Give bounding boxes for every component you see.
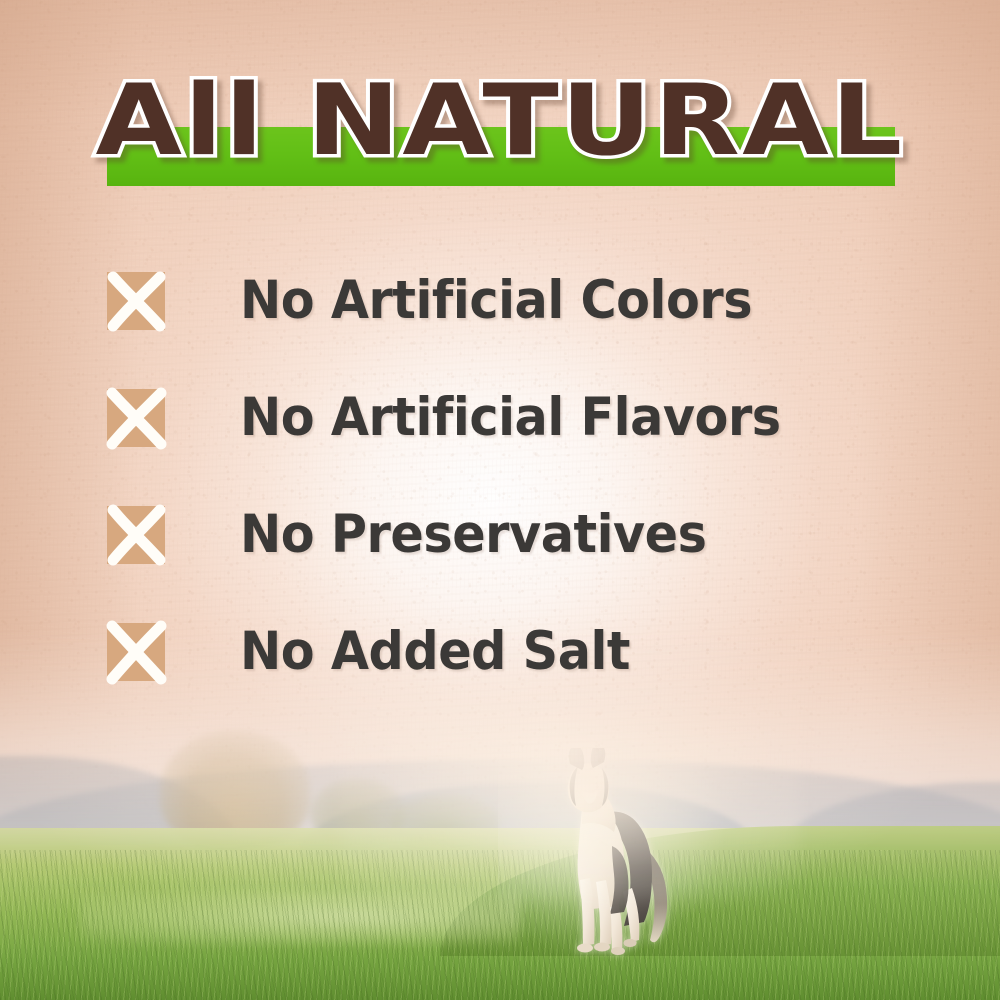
all-natural-product-poster: All NATURAL No Artificial Colors No Arti…: [0, 0, 1000, 1000]
feature-label: No Preservatives: [240, 504, 707, 565]
list-item: No Preservatives: [107, 476, 927, 593]
x-mark-icon: [107, 623, 165, 681]
list-item: No Artificial Colors: [107, 242, 927, 359]
list-item: No Artificial Flavors: [107, 359, 927, 476]
list-item: No Added Salt: [107, 593, 927, 710]
x-mark-icon: [107, 272, 165, 330]
feature-label: No Added Salt: [240, 621, 630, 682]
x-mark-icon: [107, 389, 165, 447]
feature-label: No Artificial Colors: [240, 270, 752, 331]
feature-list: No Artificial Colors No Artificial Flavo…: [107, 242, 927, 710]
feature-label: No Artificial Flavors: [240, 387, 781, 448]
page-title: All NATURAL: [0, 72, 1000, 170]
x-mark-icon: [107, 506, 165, 564]
